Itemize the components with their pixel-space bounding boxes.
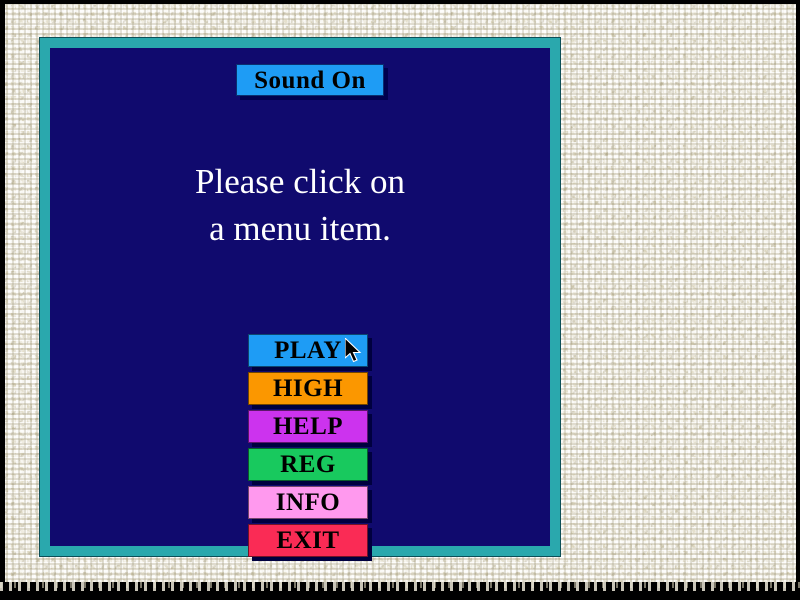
menu-item-help-face[interactable]: HELP [248, 410, 368, 443]
menu-item-exit[interactable]: EXIT [248, 524, 372, 561]
game-window-frame: Sound On Please click on a menu item. PL… [40, 38, 560, 556]
menu-item-high[interactable]: HIGH [248, 372, 372, 409]
menu-item-exit-face[interactable]: EXIT [248, 524, 368, 557]
game-panel: Sound On Please click on a menu item. PL… [50, 48, 550, 546]
main-menu: PLAY HIGH HELP REG INFO [248, 334, 372, 562]
menu-item-help[interactable]: HELP [248, 410, 372, 447]
sound-toggle-button[interactable]: Sound On [236, 64, 384, 96]
menu-item-info-face[interactable]: INFO [248, 486, 368, 519]
screen-edge-top [0, 0, 800, 4]
instruction-text: Please click on a menu item. [50, 158, 550, 252]
sound-toggle[interactable]: Sound On [236, 64, 388, 100]
instruction-line-2: a menu item. [50, 205, 550, 252]
screen-edge-left [0, 0, 5, 600]
screen-edge-bottom [0, 582, 800, 600]
instruction-line-1: Please click on [50, 158, 550, 205]
screen-edge-right [796, 0, 800, 600]
menu-item-high-face[interactable]: HIGH [248, 372, 368, 405]
application-screen: Sound On Please click on a menu item. PL… [0, 0, 800, 600]
menu-item-reg[interactable]: REG [248, 448, 372, 485]
menu-item-info[interactable]: INFO [248, 486, 372, 523]
menu-item-play[interactable]: PLAY [248, 334, 372, 371]
menu-item-play-face[interactable]: PLAY [248, 334, 368, 367]
menu-item-reg-face[interactable]: REG [248, 448, 368, 481]
